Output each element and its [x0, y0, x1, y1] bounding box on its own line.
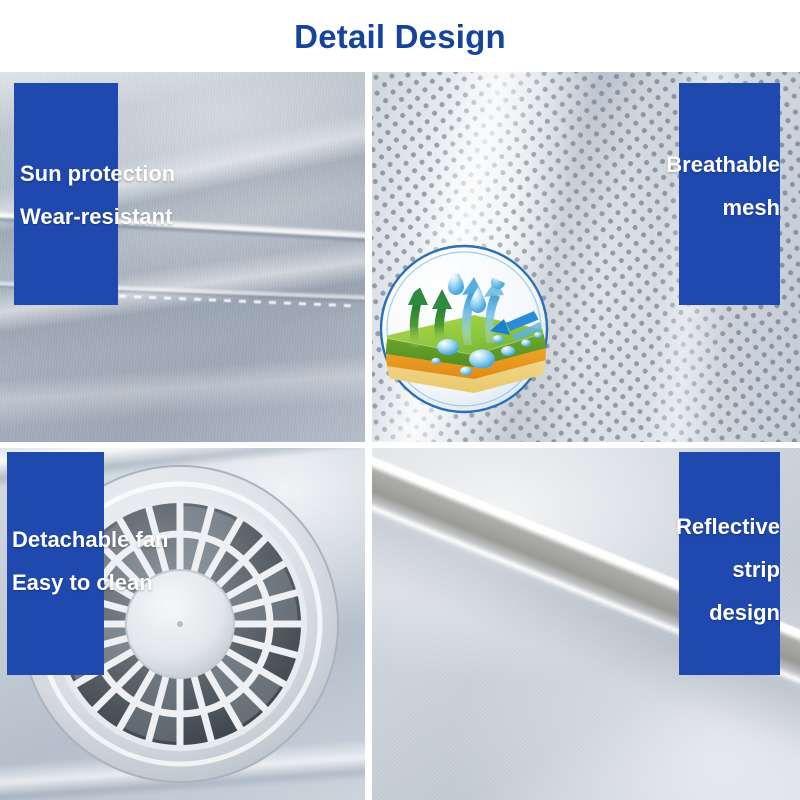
- label-line: Easy to clean: [12, 561, 169, 604]
- label-breathable-mesh: Breathable mesh: [666, 143, 780, 229]
- label-line: design: [676, 591, 780, 634]
- label-sun-protection: Sun protection Wear-resistant: [20, 152, 175, 238]
- label-line: Wear-resistant: [20, 195, 175, 238]
- label-line: mesh: [666, 186, 780, 229]
- label-line: Sun protection: [20, 152, 175, 195]
- label-reflective-strip: Reflective strip design: [676, 505, 780, 634]
- breathability-badge-icon: [378, 243, 550, 415]
- label-line: Breathable: [666, 143, 780, 186]
- page-title: Detail Design: [0, 18, 800, 56]
- label-line: strip: [676, 548, 780, 591]
- infographic-page: Detail Design: [0, 0, 800, 800]
- fan-hub-screw: [177, 621, 183, 627]
- label-line: Detachable fan: [12, 518, 169, 561]
- label-line: Reflective: [676, 505, 780, 548]
- label-detachable-fan: Detachable fan Easy to clean: [12, 518, 169, 604]
